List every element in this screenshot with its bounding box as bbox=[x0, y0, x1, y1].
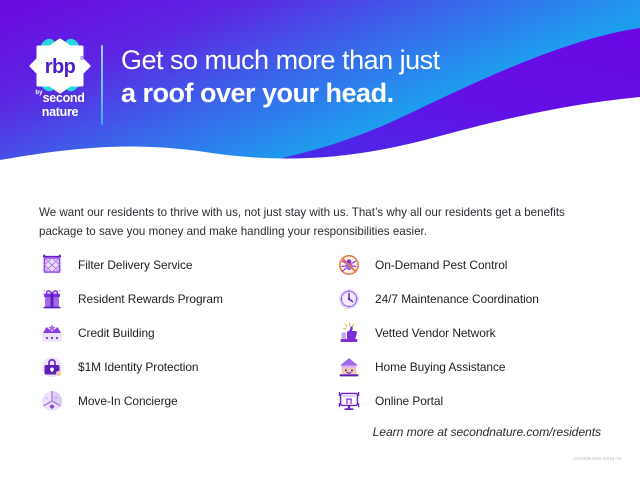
benefit-online-portal: Online Portal bbox=[336, 384, 621, 418]
benefit-label: Filter Delivery Service bbox=[78, 258, 192, 272]
benefit-label: Credit Building bbox=[78, 326, 155, 340]
rbp-logo: rbp ® bysecond nature bbox=[25, 38, 95, 124]
benefit-label: $1M Identity Protection bbox=[78, 360, 198, 374]
learn-more-text: Learn more at secondnature.com/residents bbox=[0, 425, 601, 439]
rbp-badge-icon: rbp ® bbox=[29, 38, 91, 94]
benefit-vetted-vendor-network: Vetted Vendor Network bbox=[336, 316, 621, 350]
benefit-credit-building: Credit Building bbox=[39, 316, 324, 350]
logo-tagline: bysecond nature bbox=[25, 90, 95, 119]
benefit-maintenance-coordination: 24/7 Maintenance Coordination bbox=[336, 282, 621, 316]
monitor-icon bbox=[336, 388, 362, 414]
logo-nature-text: nature bbox=[25, 106, 95, 119]
document-code: CS1008-RES 02/24-V1 bbox=[0, 456, 622, 461]
benefits-column-right: On-Demand Pest Control 24/7 Maintenance … bbox=[336, 248, 621, 418]
benefit-identity-protection: $1M Identity Protection bbox=[39, 350, 324, 384]
benefit-label: Online Portal bbox=[375, 394, 443, 408]
gift-box-icon bbox=[39, 286, 65, 312]
benefit-label: Home Buying Assistance bbox=[375, 360, 505, 374]
flyer-page: rbp ® bysecond nature Get so much more t… bbox=[0, 0, 640, 480]
benefit-label: Move-In Concierge bbox=[78, 394, 178, 408]
headline-line-1: Get so much more than just bbox=[121, 44, 541, 77]
briefcase-lock-icon bbox=[39, 354, 65, 380]
benefit-resident-rewards-program: Resident Rewards Program bbox=[39, 282, 324, 316]
crown-chart-icon bbox=[39, 320, 65, 346]
benefit-label: Resident Rewards Program bbox=[78, 292, 223, 306]
no-pest-icon bbox=[336, 252, 362, 278]
benefit-on-demand-pest-control: On-Demand Pest Control bbox=[336, 248, 621, 282]
benefits-column-left: Filter Delivery Service Resident Rewards… bbox=[39, 248, 324, 418]
svg-text:rbp: rbp bbox=[45, 56, 76, 78]
benefit-filter-delivery-service: Filter Delivery Service bbox=[39, 248, 324, 282]
intro-paragraph: We want our residents to thrive with us,… bbox=[39, 204, 591, 242]
logo-by-text: by bbox=[35, 90, 42, 96]
benefit-label: 24/7 Maintenance Coordination bbox=[375, 292, 539, 306]
filter-mesh-icon bbox=[39, 252, 65, 278]
page-title: Get so much more than just a roof over y… bbox=[121, 44, 541, 110]
headline-line-2: a roof over your head. bbox=[121, 77, 541, 110]
logo-second-text: second bbox=[43, 91, 85, 105]
benefit-label: On-Demand Pest Control bbox=[375, 258, 507, 272]
benefit-move-in-concierge: Move-In Concierge bbox=[39, 384, 324, 418]
svg-text:®: ® bbox=[80, 55, 84, 62]
benefits-section: Filter Delivery Service Resident Rewards… bbox=[39, 248, 609, 416]
benefit-label: Vetted Vendor Network bbox=[375, 326, 496, 340]
thumbs-up-icon bbox=[336, 320, 362, 346]
concierge-wheel-icon bbox=[39, 388, 65, 414]
header-divider bbox=[101, 45, 103, 125]
benefit-home-buying-assistance: Home Buying Assistance bbox=[336, 350, 621, 384]
rbp-logo-mark: rbp ® bbox=[29, 38, 91, 94]
house-icon bbox=[336, 354, 362, 380]
clock-icon bbox=[336, 286, 362, 312]
